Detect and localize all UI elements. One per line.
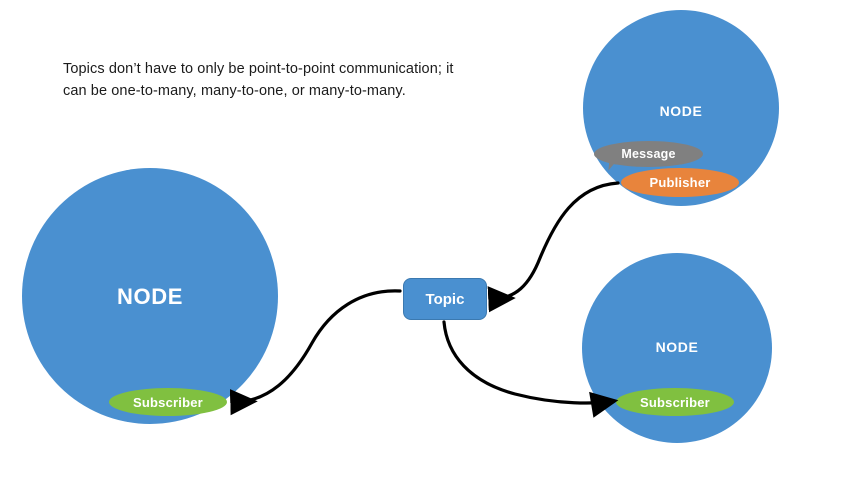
caption-text: Topics don’t have to only be point-to-po…	[63, 58, 483, 103]
node-top-right-label: NODE	[583, 103, 779, 119]
topic-box: Topic	[403, 278, 487, 320]
subscriber-pill-bottom-right: Subscriber	[616, 388, 734, 416]
node-left-circle: NODE	[22, 168, 278, 424]
diagram-canvas: Topics don’t have to only be point-to-po…	[0, 0, 854, 480]
message-pill: Message	[594, 141, 703, 167]
arrow-publisher-to-topic	[494, 183, 618, 299]
subscriber-pill-left: Subscriber	[109, 388, 227, 416]
node-bottom-right-label: NODE	[582, 339, 772, 355]
node-left-label: NODE	[22, 284, 278, 310]
publisher-pill: Publisher	[621, 168, 739, 197]
